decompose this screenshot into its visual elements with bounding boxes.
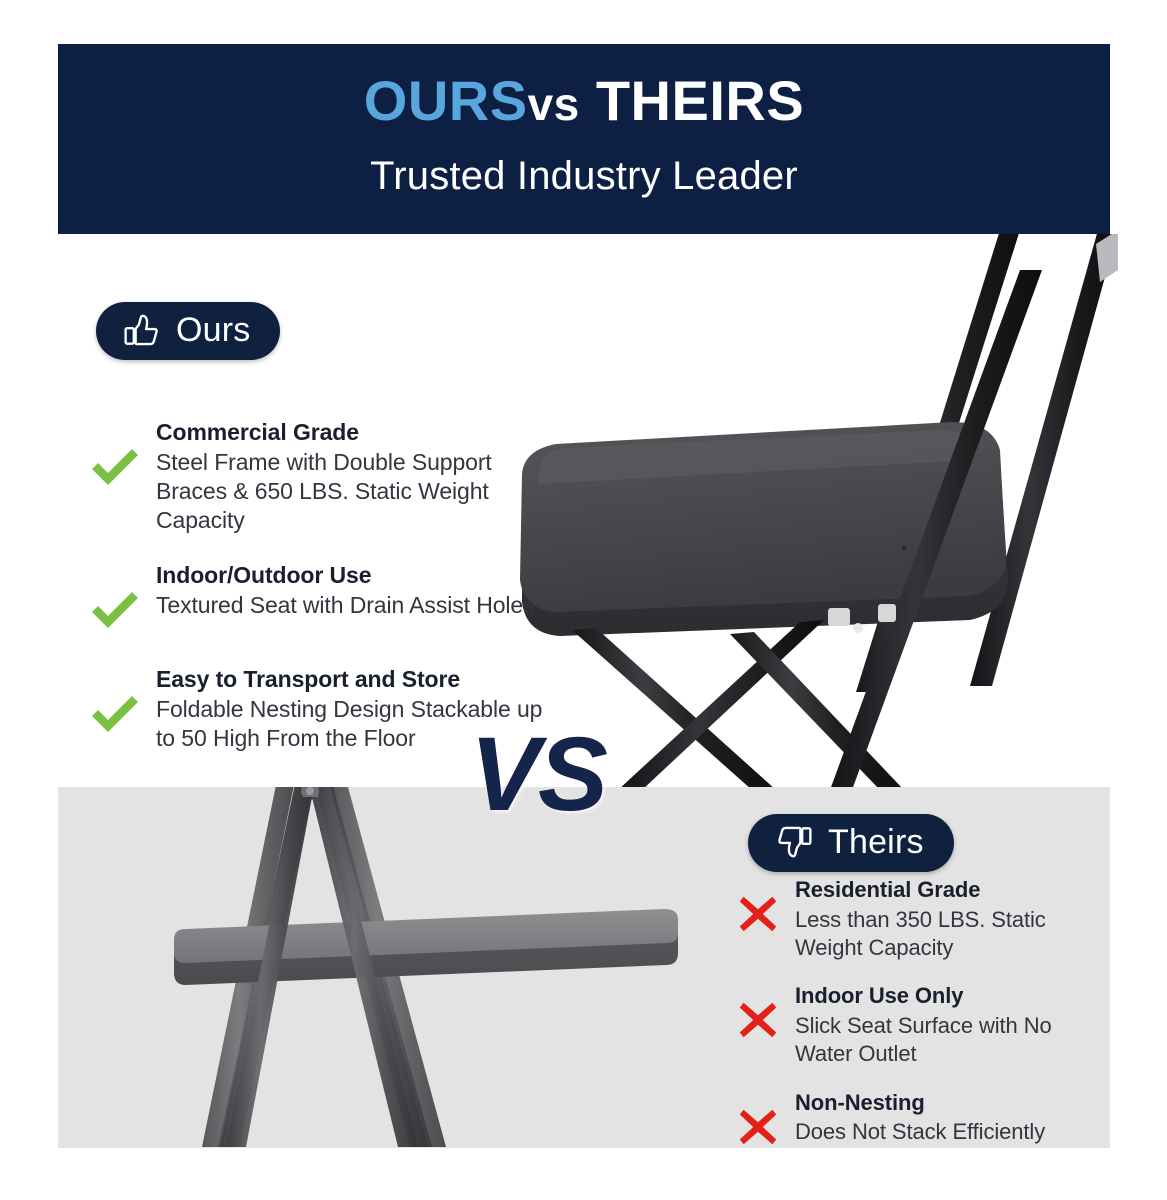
feature-title: Indoor Use Only [795,983,1080,1010]
feature-title: Residential Grade [795,877,1080,904]
feature-item: Indoor/Outdoor Use Textured Seat with Dr… [86,561,556,639]
feature-item: Non-Nesting Does Not Stack Efficiently [735,1090,1080,1150]
theirs-badge: Theirs [748,814,954,872]
theirs-feature-list: Residential Grade Less than 350 LBS. Sta… [735,877,1080,1172]
theirs-chair-image [98,787,758,1147]
page-title: OURSvs THEIRS [58,72,1110,131]
comparison-infographic: OURSvs THEIRS Trusted Industry Leader [0,0,1167,1200]
ours-badge: Ours [96,302,280,360]
page-subtitle: Trusted Industry Leader [58,154,1110,199]
check-icon [86,583,142,639]
thumbs-up-icon [122,310,162,350]
feature-description: Less than 350 LBS. Static Weight Capacit… [795,906,1080,961]
cross-icon [735,997,781,1043]
feature-description: Textured Seat with Drain Assist Holes [156,591,556,620]
title-theirs: THEIRS [596,69,804,132]
check-icon [86,687,142,743]
feature-title: Commercial Grade [156,418,556,446]
check-icon [86,440,142,496]
feature-item: Indoor Use Only Slick Seat Surface with … [735,983,1080,1067]
cross-icon [735,1104,781,1150]
cross-icon [735,891,781,937]
thumbs-down-icon [774,822,814,862]
feature-description: Does Not Stack Efficiently [795,1118,1080,1146]
title-ours: OURS [364,69,528,132]
title-vs: vs [528,78,580,130]
feature-description: Steel Frame with Double Support Braces &… [156,448,556,535]
ours-badge-label: Ours [176,313,250,347]
feature-item: Residential Grade Less than 350 LBS. Sta… [735,877,1080,961]
vs-divider-label: VS [470,722,606,827]
feature-title: Non-Nesting [795,1090,1080,1117]
ours-chair-image [500,234,1120,790]
feature-title: Easy to Transport and Store [156,665,556,693]
theirs-badge-label: Theirs [828,825,924,859]
feature-title: Indoor/Outdoor Use [156,561,556,589]
header-banner: OURSvs THEIRS Trusted Industry Leader [58,44,1110,234]
feature-item: Commercial Grade Steel Frame with Double… [86,418,556,535]
feature-description: Slick Seat Surface with No Water Outlet [795,1012,1080,1067]
